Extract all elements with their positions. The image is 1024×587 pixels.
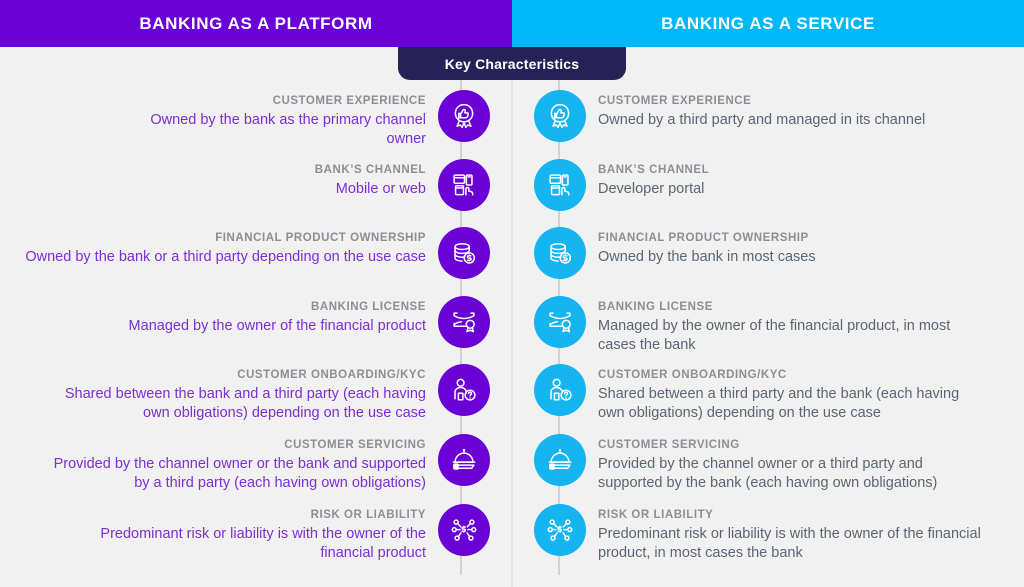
row-label: CUSTOMER SERVICING [598, 438, 986, 453]
comparison-row: CUSTOMER ONBOARDING/KYCShared between th… [0, 364, 1024, 423]
comparison-infographic: BANKING AS A PLATFORM BANKING AS A SERVI… [0, 0, 1024, 587]
row-label: BANKING LICENSE [118, 300, 426, 315]
service-cell: BANKING LICENSEManaged by the owner of t… [512, 296, 1024, 355]
platform-text: CUSTOMER ONBOARDING/KYCShared between th… [38, 364, 438, 423]
row-label: FINANCIAL PRODUCT OWNERSHIP [598, 231, 1006, 246]
badge-thumbs-up-icon [534, 90, 586, 142]
platform-cell: CUSTOMER EXPERIENCEOwned by the bank as … [0, 90, 512, 149]
service-description: Developer portal [598, 180, 1006, 199]
header-right-title: BANKING AS A SERVICE [661, 14, 875, 34]
service-text: CUSTOMER EXPERIENCEOwned by a third part… [586, 90, 1006, 130]
platform-cell: CUSTOMER ONBOARDING/KYCShared between th… [0, 364, 512, 423]
comparison-row: CUSTOMER SERVICINGProvided by the channe… [0, 434, 1024, 493]
platform-text: CUSTOMER SERVICINGProvided by the channe… [48, 434, 438, 493]
person-question-icon [438, 364, 490, 416]
certificate-seal-icon [438, 296, 490, 348]
row-label: CUSTOMER ONBOARDING/KYC [38, 368, 426, 383]
service-description: Shared between a third party and the ban… [598, 385, 986, 423]
service-description: Owned by a third party and managed in it… [598, 111, 1006, 130]
row-label: CUSTOMER ONBOARDING/KYC [598, 368, 986, 383]
service-text: BANK’S CHANNELDeveloper portal [586, 159, 1006, 199]
header-banking-as-a-platform: BANKING AS A PLATFORM [0, 0, 512, 47]
platform-text: CUSTOMER EXPERIENCEOwned by the bank as … [108, 90, 438, 149]
service-text: FINANCIAL PRODUCT OWNERSHIPOwned by the … [586, 227, 1006, 267]
service-text: CUSTOMER SERVICINGProvided by the channe… [586, 434, 986, 493]
platform-cell: RISK OR LIABILITYPredominant risk or lia… [0, 504, 512, 563]
comparison-row: CUSTOMER EXPERIENCEOwned by the bank as … [0, 90, 1024, 149]
service-text: BANKING LICENSEManaged by the owner of t… [586, 296, 991, 355]
platform-description: Shared between the bank and a third part… [38, 385, 426, 423]
platform-text: FINANCIAL PRODUCT OWNERSHIPOwned by the … [18, 227, 438, 267]
platform-description: Provided by the channel owner or the ban… [48, 455, 426, 493]
key-characteristics-tab: Key Characteristics [398, 47, 626, 80]
row-label: FINANCIAL PRODUCT OWNERSHIP [18, 231, 426, 246]
header-left-title: BANKING AS A PLATFORM [139, 14, 372, 34]
platform-description: Owned by the bank as the primary channel… [108, 111, 426, 149]
header-banking-as-a-service: BANKING AS A SERVICE [512, 0, 1024, 47]
service-cell: BANK’S CHANNELDeveloper portal [512, 159, 1024, 211]
platform-cell: BANKING LICENSEManaged by the owner of t… [0, 296, 512, 355]
service-description: Predominant risk or liability is with th… [598, 525, 996, 563]
network-dollar-icon [438, 504, 490, 556]
certificate-seal-icon [534, 296, 586, 348]
row-label: CUSTOMER SERVICING [48, 438, 426, 453]
service-description: Managed by the owner of the financial pr… [598, 317, 991, 355]
row-label: CUSTOMER EXPERIENCE [108, 94, 426, 109]
row-label: RISK OR LIABILITY [93, 508, 426, 523]
row-label: BANK’S CHANNEL [108, 163, 426, 178]
platform-description: Mobile or web [108, 180, 426, 199]
row-label: BANK’S CHANNEL [598, 163, 1006, 178]
network-dollar-icon [534, 504, 586, 556]
service-cell: CUSTOMER ONBOARDING/KYCShared between a … [512, 364, 1024, 423]
row-label: RISK OR LIABILITY [598, 508, 996, 523]
service-dome-icon [438, 434, 490, 486]
comparison-row: FINANCIAL PRODUCT OWNERSHIPOwned by the … [0, 227, 1024, 279]
service-text: CUSTOMER ONBOARDING/KYCShared between a … [586, 364, 986, 423]
platform-cell: BANK’S CHANNELMobile or web [0, 159, 512, 211]
platform-text: RISK OR LIABILITYPredominant risk or lia… [93, 504, 438, 563]
comparison-row: RISK OR LIABILITYPredominant risk or lia… [0, 504, 1024, 563]
service-cell: CUSTOMER EXPERIENCEOwned by a third part… [512, 90, 1024, 149]
service-cell: FINANCIAL PRODUCT OWNERSHIPOwned by the … [512, 227, 1024, 279]
row-label: CUSTOMER EXPERIENCE [598, 94, 1006, 109]
platform-description: Predominant risk or liability is with th… [93, 525, 426, 563]
coins-dollar-icon [438, 227, 490, 279]
header-bar: BANKING AS A PLATFORM BANKING AS A SERVI… [0, 0, 1024, 47]
coins-dollar-icon [534, 227, 586, 279]
platform-description: Managed by the owner of the financial pr… [118, 317, 426, 336]
service-description: Provided by the channel owner or a third… [598, 455, 986, 493]
service-dome-icon [534, 434, 586, 486]
devices-channel-icon [534, 159, 586, 211]
key-characteristics-label: Key Characteristics [445, 56, 580, 72]
person-question-icon [534, 364, 586, 416]
platform-text: BANKING LICENSEManaged by the owner of t… [118, 296, 438, 336]
platform-cell: FINANCIAL PRODUCT OWNERSHIPOwned by the … [0, 227, 512, 279]
service-cell: CUSTOMER SERVICINGProvided by the channe… [512, 434, 1024, 493]
platform-cell: CUSTOMER SERVICINGProvided by the channe… [0, 434, 512, 493]
comparison-row: BANK’S CHANNELMobile or webBANK’S CHANNE… [0, 159, 1024, 211]
devices-channel-icon [438, 159, 490, 211]
row-label: BANKING LICENSE [598, 300, 991, 315]
service-description: Owned by the bank in most cases [598, 248, 1006, 267]
platform-description: Owned by the bank or a third party depen… [18, 248, 426, 267]
service-cell: RISK OR LIABILITYPredominant risk or lia… [512, 504, 1024, 563]
comparison-row: BANKING LICENSEManaged by the owner of t… [0, 296, 1024, 355]
service-text: RISK OR LIABILITYPredominant risk or lia… [586, 504, 996, 563]
platform-text: BANK’S CHANNELMobile or web [108, 159, 438, 199]
badge-thumbs-up-icon [438, 90, 490, 142]
